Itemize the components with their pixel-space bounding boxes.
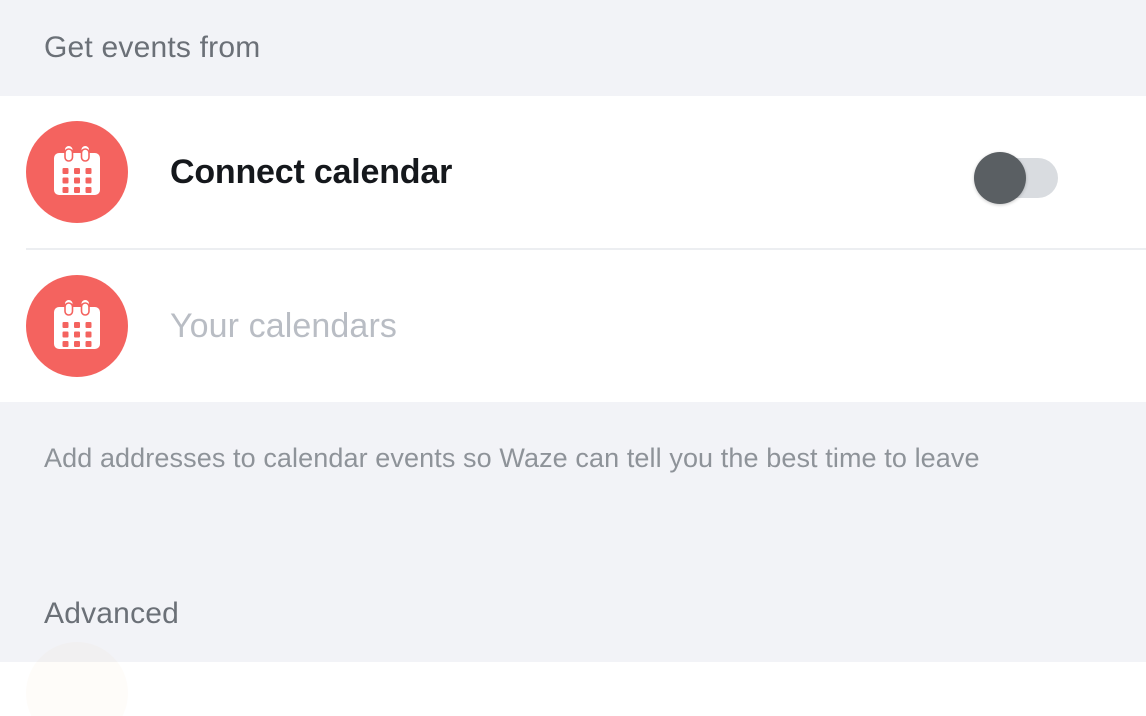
toggle-thumb [974, 152, 1026, 204]
calendar-icon [26, 121, 128, 223]
advanced-card [0, 662, 1146, 716]
row-connect-calendar[interactable]: Connect calendar [0, 96, 1146, 248]
connect-calendar-toggle[interactable] [974, 152, 1058, 192]
advanced-first-row-clipped[interactable] [0, 662, 1146, 716]
footnote-container: Add addresses to calendar events so Waze… [0, 402, 1146, 526]
section-header-label: Advanced [44, 599, 179, 629]
calendar-icon [26, 275, 128, 377]
section-header-get-events-from: Get events from [0, 0, 1146, 96]
footnote-text: Add addresses to calendar events so Waze… [44, 442, 1102, 474]
row-label-connect-calendar: Connect calendar [170, 155, 452, 189]
get-events-from-card: Connect calendar [0, 96, 1146, 402]
settings-screen: Get events from [0, 0, 1146, 716]
section-header-advanced: Advanced [0, 566, 1146, 662]
row-label-your-calendars: Your calendars [170, 309, 397, 343]
section-header-label: Get events from [44, 33, 260, 63]
section-spacer [0, 526, 1146, 566]
row-your-calendars[interactable]: Your calendars [0, 250, 1146, 402]
